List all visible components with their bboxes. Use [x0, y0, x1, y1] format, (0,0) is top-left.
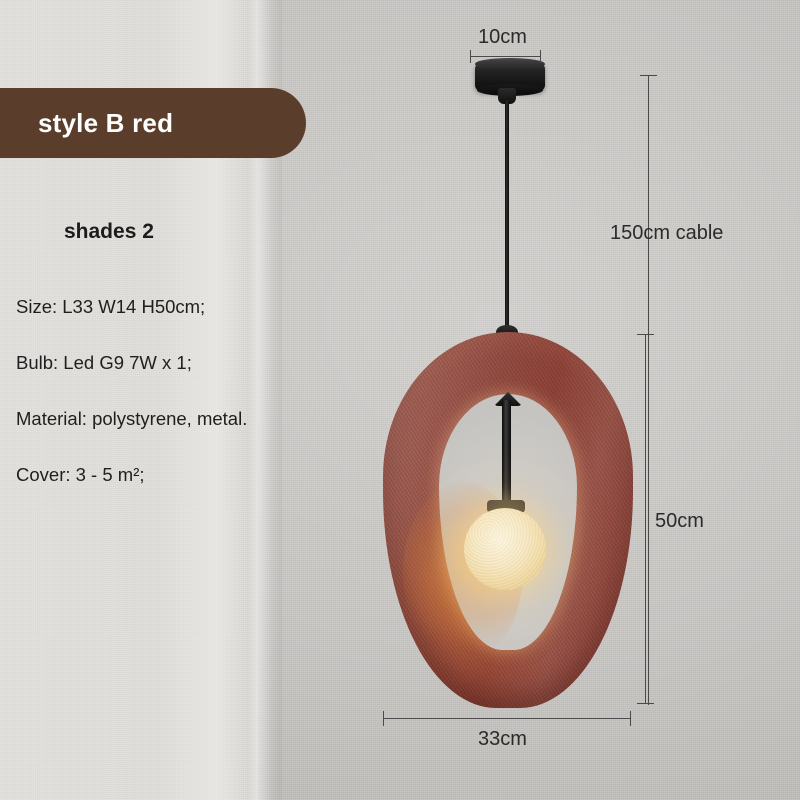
pendant-cable — [505, 100, 509, 332]
style-badge-label: style B red — [38, 108, 173, 139]
dimension-tick-shade-bottom — [637, 703, 654, 704]
dimension-line-canopy-width — [470, 56, 541, 57]
variant-title: shades 2 — [64, 220, 154, 244]
spec-list: Size: L33 W14 H50cm; Bulb: Led G9 7W x 1… — [16, 296, 266, 520]
spec-line-size: Size: L33 W14 H50cm; — [16, 296, 266, 318]
dimension-tick-canopy-right — [540, 50, 541, 63]
dimension-tick-shade-right — [630, 711, 631, 726]
dimension-line-shade-height — [645, 334, 646, 704]
product-spec-image: style B red shades 2 Size: L33 W14 H50cm… — [0, 0, 800, 800]
dimension-tick-cable-top — [640, 75, 657, 76]
dimension-tick-shade-top — [637, 334, 654, 335]
dimension-label-shade-width: 33cm — [478, 728, 527, 751]
dimension-label-canopy-width: 10cm — [478, 26, 527, 49]
spec-line-material: Material: polystyrene, metal. — [16, 408, 266, 430]
spec-line-bulb: Bulb: Led G9 7W x 1; — [16, 352, 266, 374]
style-badge: style B red — [0, 88, 306, 158]
dimension-label-cable-length: 150cm cable — [610, 222, 723, 245]
globe-bulb — [464, 508, 546, 590]
spec-line-cover: Cover: 3 - 5 m²; — [16, 464, 266, 486]
dimension-tick-shade-left — [383, 711, 384, 726]
dimension-label-shade-height: 50cm — [655, 510, 704, 533]
dimension-line-cable-length — [648, 75, 649, 705]
dimension-line-shade-width — [383, 718, 631, 719]
bulb-rod — [502, 400, 511, 506]
dimension-tick-canopy-left — [470, 50, 471, 63]
